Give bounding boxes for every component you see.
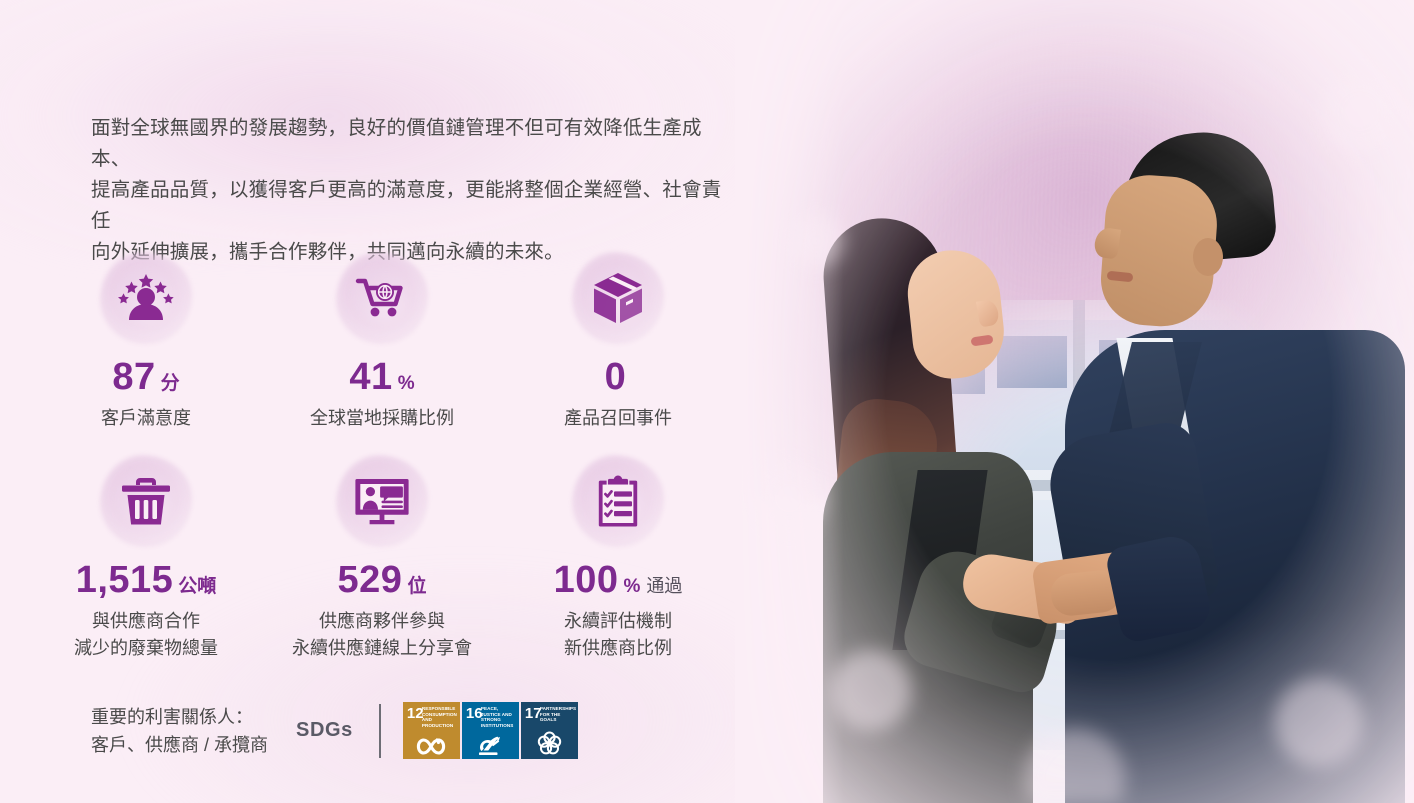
stat-unit: 公噸 xyxy=(178,576,216,597)
sdg-tile-17[interactable]: 17 PARTNERSHIPS FOR THE GOALS xyxy=(521,702,578,759)
sdg-title: PARTNERSHIPS FOR THE GOALS xyxy=(540,706,576,723)
intro-line-2: 提高產品品質，以獲得客戶更高的滿意度，更能將整個企業經營、社會責任 xyxy=(91,175,737,237)
package-box-icon xyxy=(572,252,664,344)
stat-card-supplier-webinar: 529位 供應商夥伴參與 永續供應鏈線上分享會 xyxy=(264,455,500,662)
sdg-tile-12[interactable]: 12 RESPONSIBLE CONSUMPTION AND PRODUCTIO… xyxy=(403,702,460,759)
dove-gavel-icon xyxy=(462,735,519,756)
stat-label: 全球當地採購比例 xyxy=(310,405,454,432)
stat-value-block: 1,515公噸 xyxy=(76,561,217,599)
stat-card-product-recalls: 0 產品召回事件 xyxy=(500,252,736,432)
stat-value-block: 41% xyxy=(349,358,414,396)
stat-unit: 分 xyxy=(161,373,180,394)
stat-label-line-2: 新供應商比例 xyxy=(564,635,672,662)
stat-value-block: 529位 xyxy=(338,561,427,599)
stat-card-waste-reduction: 1,515公噸 與供應商合作 減少的廢棄物總量 xyxy=(28,455,264,662)
stat-unit: % xyxy=(624,576,641,597)
stakeholder-block: 重要的利害關係人： 客戶、供應商 / 承攬商 xyxy=(91,703,276,759)
stat-value-block: 100%通過 xyxy=(554,561,683,599)
stat-label: 供應商夥伴參與 永續供應鏈線上分享會 xyxy=(292,608,472,662)
stat-value: 100 xyxy=(554,559,619,601)
infinity-arrows-icon xyxy=(403,737,460,756)
stat-label-line-1: 產品召回事件 xyxy=(564,405,672,432)
business-handshake-photo xyxy=(735,0,1414,803)
stats-row-2: 1,515公噸 與供應商合作 減少的廢棄物總量 xyxy=(28,455,736,662)
person-with-stars-icon xyxy=(100,252,192,344)
stat-value: 0 xyxy=(605,356,627,398)
stat-unit: % xyxy=(398,373,415,394)
page-root: 面對全球無國界的發展趨勢，良好的價值鏈管理不但可有效降低生產成本、 提高產品品質… xyxy=(0,0,1414,803)
stat-label-line-2: 減少的廢棄物總量 xyxy=(74,635,218,662)
stat-value: 1,515 xyxy=(76,559,174,601)
stat-label-line-1: 永續評估機制 xyxy=(564,608,672,635)
stat-label: 永續評估機制 新供應商比例 xyxy=(564,608,672,662)
sdg-title: PEACE, JUSTICE AND STRONG INSTITUTIONS xyxy=(481,706,517,728)
sdg-title: RESPONSIBLE CONSUMPTION AND PRODUCTION xyxy=(422,706,458,728)
stat-unit: 位 xyxy=(407,576,426,597)
stat-label-line-1: 全球當地採購比例 xyxy=(310,405,454,432)
footer-bar: 重要的利害關係人： 客戶、供應商 / 承攬商 SDGs 12 RESPONSIB… xyxy=(91,702,578,759)
stat-label-line-1: 供應商夥伴參與 xyxy=(292,608,472,635)
sdg-tile-16[interactable]: 16 PEACE, JUSTICE AND STRONG INSTITUTION… xyxy=(462,702,519,759)
stat-value-block: 0 xyxy=(605,358,632,396)
stat-card-customer-satisfaction: 87分 客戶滿意度 xyxy=(28,252,264,432)
stat-label-line-1: 與供應商合作 xyxy=(74,608,218,635)
shopping-cart-globe-icon xyxy=(336,252,428,344)
clipboard-checklist-icon xyxy=(572,455,664,547)
webinar-monitor-icon xyxy=(336,455,428,547)
sdgs-label: SDGs xyxy=(296,719,353,742)
intro-paragraph: 面對全球無國界的發展趨勢，良好的價值鏈管理不但可有效降低生產成本、 提高產品品質… xyxy=(91,113,737,268)
stat-value: 529 xyxy=(338,559,403,601)
stakeholder-list: 客戶、供應商 / 承攬商 xyxy=(91,731,276,759)
stat-label-line-1: 客戶滿意度 xyxy=(101,405,191,432)
stat-suffix: 通過 xyxy=(646,576,682,596)
stat-value-block: 87分 xyxy=(112,358,179,396)
content-column: 面對全球無國界的發展趨勢，良好的價值鏈管理不但可有效降低生產成本、 提高產品品質… xyxy=(0,0,760,803)
stat-label: 客戶滿意度 xyxy=(101,405,191,432)
sdg-tile-group: 12 RESPONSIBLE CONSUMPTION AND PRODUCTIO… xyxy=(403,702,578,759)
stat-value: 87 xyxy=(112,356,155,398)
footer-divider xyxy=(379,704,381,758)
stat-label: 產品召回事件 xyxy=(564,405,672,432)
stat-label: 與供應商合作 減少的廢棄物總量 xyxy=(74,608,218,662)
stat-label-line-2: 永續供應鏈線上分享會 xyxy=(292,635,472,662)
stat-card-sustainability-assessment: 100%通過 永續評估機制 新供應商比例 xyxy=(500,455,736,662)
stats-row-1: 87分 客戶滿意度 xyxy=(28,252,736,432)
intro-line-1: 面對全球無國界的發展趨勢，良好的價值鏈管理不但可有效降低生產成本、 xyxy=(91,113,737,175)
interlocking-circles-icon xyxy=(521,731,578,756)
trash-bin-icon xyxy=(100,455,192,547)
stat-card-local-procurement: 41% 全球當地採購比例 xyxy=(264,252,500,432)
stakeholder-title: 重要的利害關係人： xyxy=(91,703,276,731)
stat-value: 41 xyxy=(349,356,392,398)
photo-edge-speckle xyxy=(735,0,1414,803)
